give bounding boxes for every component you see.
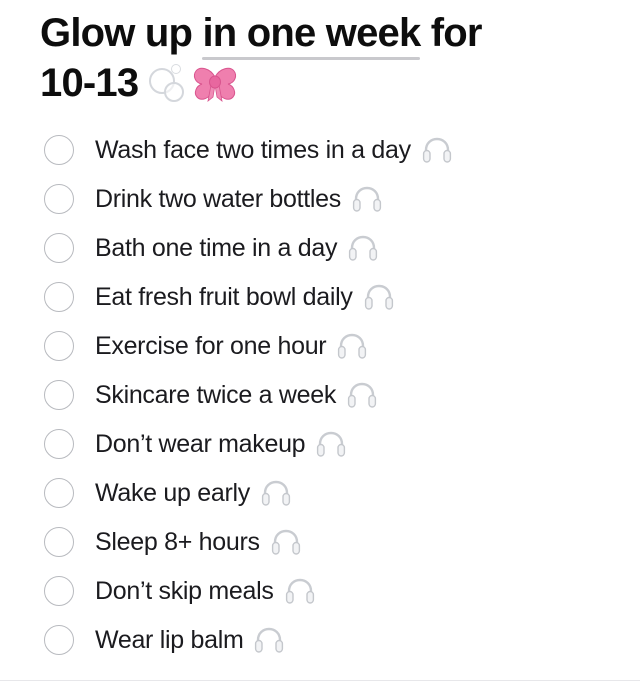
list-item[interactable]: Skincare twice a week	[0, 370, 640, 419]
bubbles-icon	[148, 62, 190, 104]
list-item[interactable]: Sleep 8+ hours	[0, 517, 640, 566]
headphones-icon	[316, 430, 346, 458]
title-underlined-phrase: in one week	[202, 8, 420, 58]
list-item-label: Wash face two times in a day	[95, 135, 411, 165]
headphones-icon	[254, 626, 284, 654]
checkbox-unchecked-icon[interactable]	[44, 478, 74, 508]
bubble-small	[171, 64, 181, 74]
checkbox-unchecked-icon[interactable]	[44, 184, 74, 214]
headphones-icon	[285, 577, 315, 605]
checkbox-unchecked-icon[interactable]	[44, 135, 74, 165]
headphones-icon	[422, 136, 452, 164]
headphones-icon	[271, 528, 301, 556]
ribbon-bow-icon	[192, 63, 238, 103]
title-line-1: Glow up in one week for	[40, 8, 600, 58]
checklist: Wash face two times in a day Drink two w…	[0, 125, 640, 664]
list-item[interactable]: Eat fresh fruit bowl daily	[0, 272, 640, 321]
list-item[interactable]: Exercise for one hour	[0, 321, 640, 370]
list-item-label: Don’t skip meals	[95, 576, 274, 606]
checkbox-unchecked-icon[interactable]	[44, 380, 74, 410]
list-item-label: Wear lip balm	[95, 625, 243, 655]
list-item-label: Wake up early	[95, 478, 250, 508]
list-item-label: Sleep 8+ hours	[95, 527, 260, 557]
checkbox-unchecked-icon[interactable]	[44, 282, 74, 312]
headphones-icon	[348, 234, 378, 262]
headphones-icon	[347, 381, 377, 409]
list-item-label: Bath one time in a day	[95, 233, 337, 263]
headphones-icon	[364, 283, 394, 311]
list-item[interactable]: Wake up early	[0, 468, 640, 517]
glow-up-checklist-screenshot: Glow up in one week for 10-13	[0, 0, 640, 681]
checkbox-unchecked-icon[interactable]	[44, 233, 74, 263]
list-item[interactable]: Don’t skip meals	[0, 566, 640, 615]
list-item[interactable]: Wear lip balm	[0, 615, 640, 664]
list-item-label: Don’t wear makeup	[95, 429, 305, 459]
page-title: Glow up in one week for 10-13	[40, 8, 600, 108]
checkbox-unchecked-icon[interactable]	[44, 576, 74, 606]
bubble-medium	[164, 82, 184, 102]
list-item-label: Skincare twice a week	[95, 380, 336, 410]
list-item-label: Drink two water bottles	[95, 184, 341, 214]
title-age-range: 10-13	[40, 58, 138, 108]
list-item[interactable]: Drink two water bottles	[0, 174, 640, 223]
list-item[interactable]: Bath one time in a day	[0, 223, 640, 272]
title-text-before-underline: Glow up	[40, 11, 202, 55]
headphones-icon	[352, 185, 382, 213]
headphones-icon	[337, 332, 367, 360]
list-item[interactable]: Don’t wear makeup	[0, 419, 640, 468]
checkbox-unchecked-icon[interactable]	[44, 429, 74, 459]
checkbox-unchecked-icon[interactable]	[44, 331, 74, 361]
checkbox-unchecked-icon[interactable]	[44, 527, 74, 557]
checkbox-unchecked-icon[interactable]	[44, 625, 74, 655]
list-item-label: Eat fresh fruit bowl daily	[95, 282, 353, 312]
headphones-icon	[261, 479, 291, 507]
list-item[interactable]: Wash face two times in a day	[0, 125, 640, 174]
list-item-label: Exercise for one hour	[95, 331, 326, 361]
title-line-2: 10-13	[40, 58, 600, 108]
title-text-after-underline: for	[420, 11, 481, 55]
